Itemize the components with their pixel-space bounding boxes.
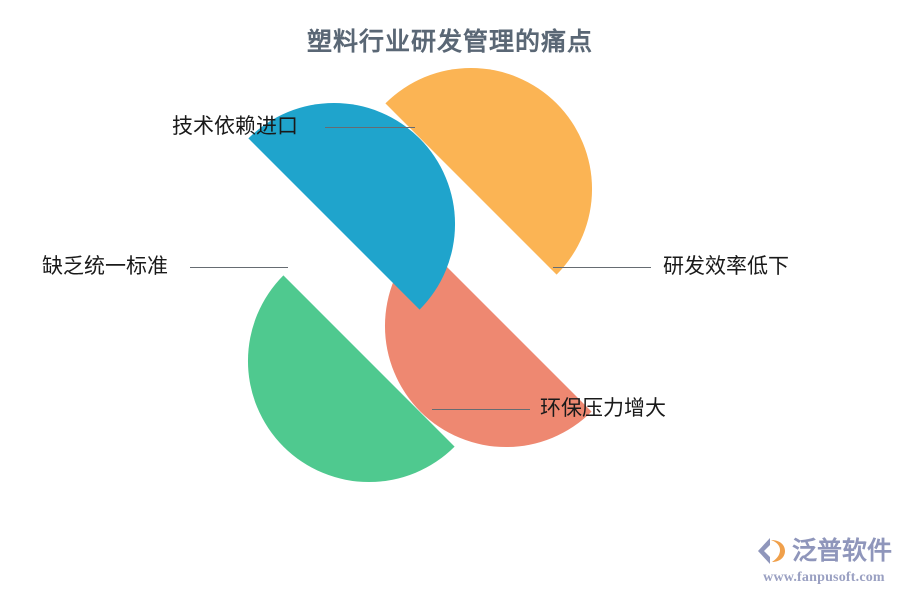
brand-name: 泛普软件: [792, 539, 892, 564]
brand-watermark[interactable]: 泛普软件 www.fanpusoft.com: [756, 534, 892, 590]
label-technology-import-dependence[interactable]: 技术依赖进口: [172, 116, 298, 137]
connector-line-middle-right: [553, 267, 651, 268]
brand-row: 泛普软件: [756, 534, 892, 568]
fanpu-logo-icon: [756, 536, 788, 566]
label-low-rd-efficiency[interactable]: 研发效率低下: [663, 256, 789, 277]
brand-website: www.fanpusoft.com: [756, 570, 892, 586]
label-lack-unified-standard[interactable]: 缺乏统一标准: [42, 256, 168, 277]
pinwheel-diagram: [0, 0, 900, 600]
connector-line-top-left: [325, 127, 415, 128]
label-environmental-pressure[interactable]: 环保压力增大: [540, 398, 666, 419]
connector-line-bottom-right: [432, 409, 530, 410]
connector-line-middle-left: [190, 267, 288, 268]
infographic-canvas: 塑料行业研发管理的痛点 技术依赖进口 缺乏统一标准 研发效率低下 环保压力增大: [0, 0, 900, 600]
